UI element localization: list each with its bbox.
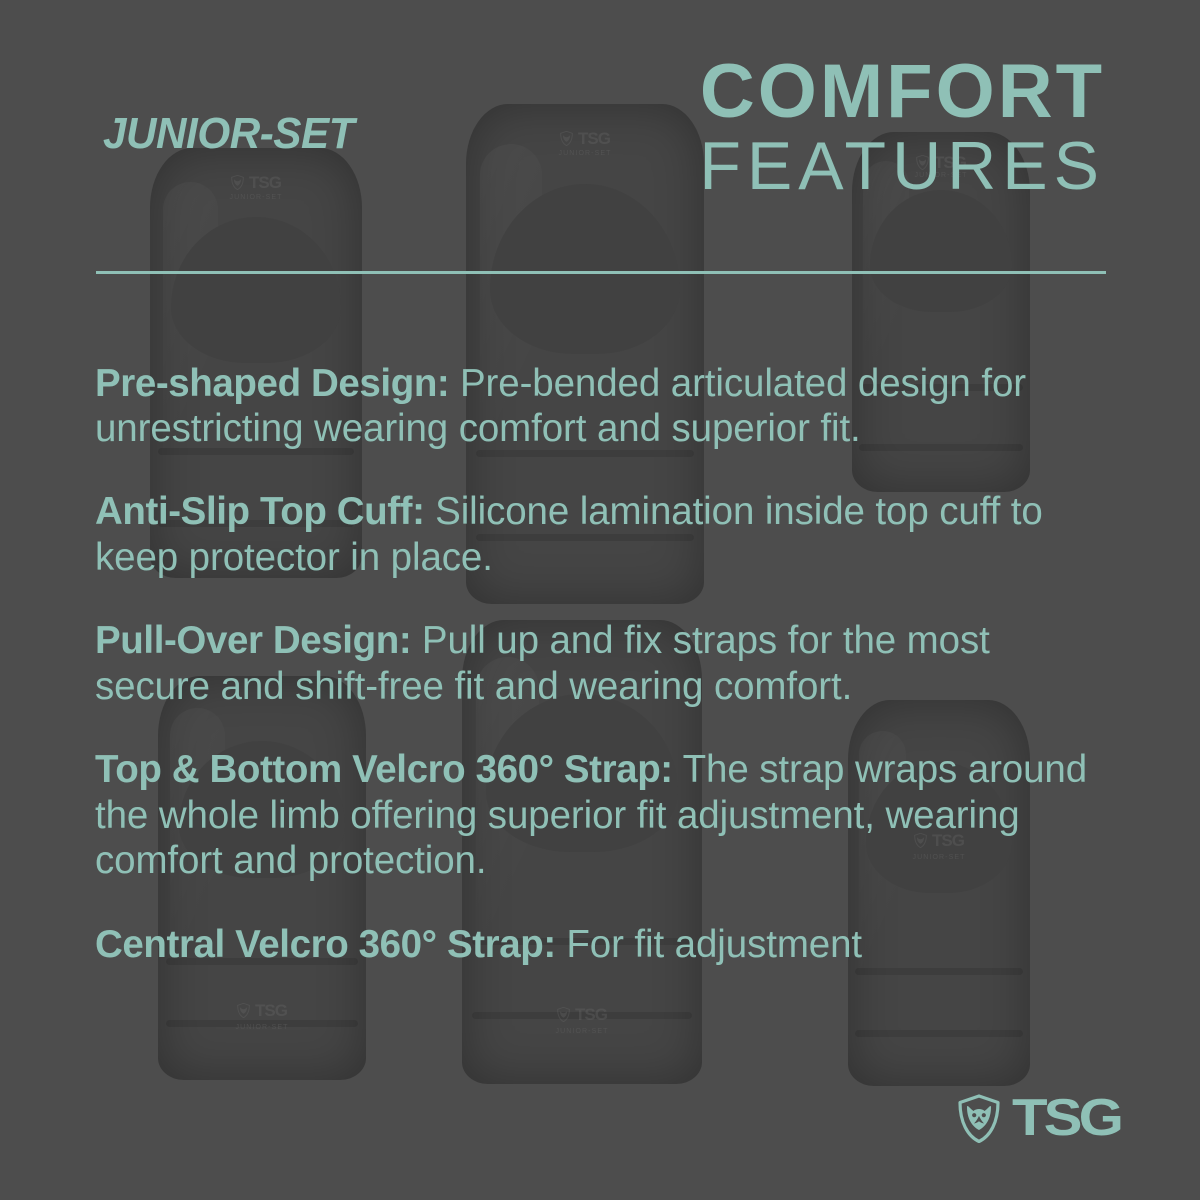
- header-divider: [96, 271, 1106, 274]
- product-feature-poster: TSG JUNIOR-SET TSG JUNIOR-SET: [0, 0, 1200, 1200]
- feature-description: For fit adjustment: [566, 923, 862, 966]
- feature-item: Central Velcro 360° Strap: For fit adjus…: [95, 922, 1113, 967]
- feature-item: Pull-Over Design: Pull up and fix straps…: [95, 618, 1113, 708]
- poster-content: JUNIOR-SET COMFORT FEATURES Pre-shaped D…: [0, 0, 1200, 1200]
- feature-item: Top & Bottom Velcro 360° Strap: The stra…: [95, 747, 1113, 883]
- feature-list: Pre-shaped Design: Pre-bended articulate…: [95, 322, 1113, 986]
- feature-item: Anti-Slip Top Cuff: Silicone lamination …: [95, 489, 1113, 579]
- feature-label: Top & Bottom Velcro 360° Strap:: [95, 748, 673, 791]
- feature-label: Pre-shaped Design:: [95, 362, 449, 405]
- feature-item: Pre-shaped Design: Pre-bended articulate…: [95, 361, 1113, 451]
- feature-label: Central Velcro 360° Strap:: [95, 923, 556, 966]
- feature-label: Anti-Slip Top Cuff:: [95, 490, 425, 533]
- tsg-brand-logo: TSG: [957, 1092, 1108, 1144]
- tsg-wordmark: TSG: [1012, 1092, 1120, 1144]
- headline-primary: COMFORT: [699, 56, 1105, 128]
- page-title: COMFORT FEATURES: [699, 56, 1105, 204]
- headline-secondary: FEATURES: [699, 130, 1105, 203]
- kicker-junior-set: JUNIOR-SET: [103, 112, 354, 156]
- tsg-shield-icon: [957, 1094, 1001, 1143]
- feature-label: Pull-Over Design:: [95, 619, 411, 662]
